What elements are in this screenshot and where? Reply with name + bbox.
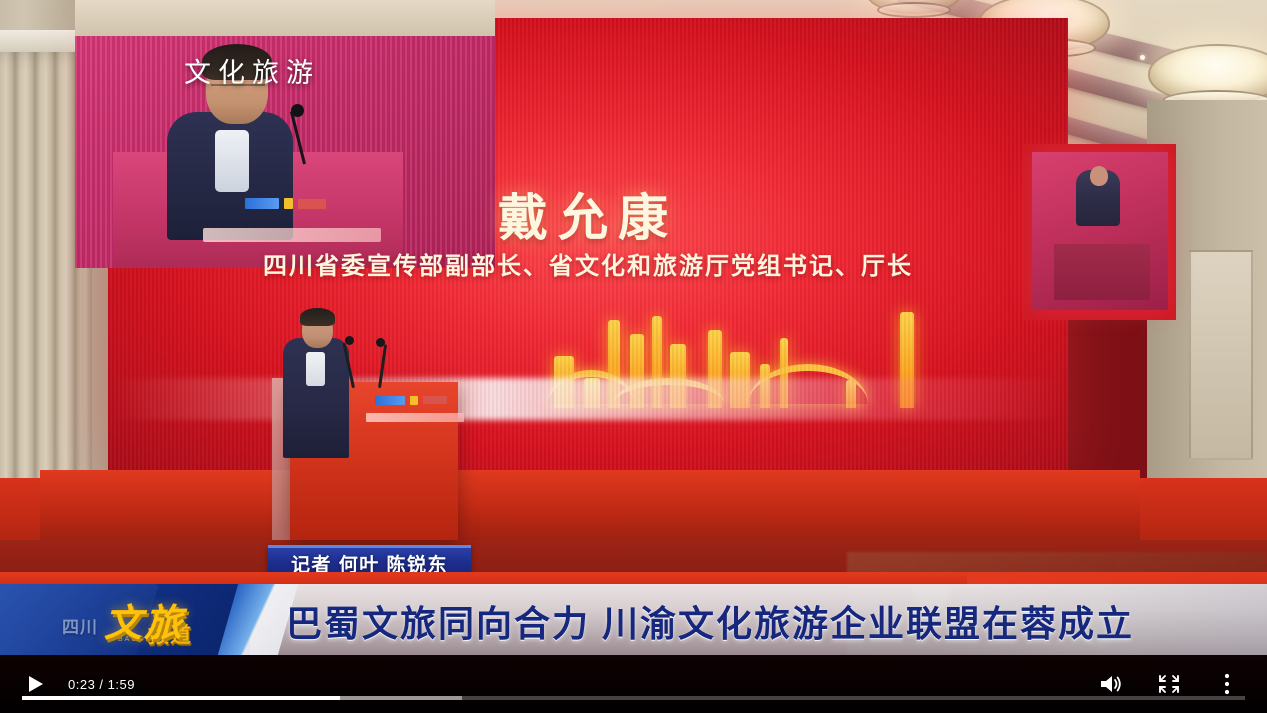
headline-text: 巴蜀文旅同向合力 川渝文化旅游企业联盟在蓉成立 — [286, 592, 1246, 650]
speaker-hair — [300, 308, 335, 326]
video-controls-bar: 0:23 / 1:59 — [0, 655, 1267, 713]
play-icon[interactable] — [22, 670, 50, 698]
channel-name-label: 文化旅游 — [184, 51, 320, 90]
podium-event-title — [366, 413, 464, 422]
lower-third-graphic: 四川 BAODAO 报道 文旅 巴蜀文旅同向合力 川渝文化旅游企业联盟在蓉成立 — [0, 572, 1267, 655]
sctv-swoosh-icon — [88, 42, 170, 98]
microphone-head — [345, 336, 354, 345]
light-streak — [108, 378, 1068, 420]
chandelier — [1148, 44, 1267, 104]
exit-fullscreen-icon[interactable] — [1155, 670, 1183, 698]
progress-bar-track[interactable] — [22, 696, 1245, 700]
led-speaker-title: 四川省委宣传部副部长、省文化和旅游厅党组书记、厅长 — [108, 246, 1068, 281]
program-logo-region: 四川 — [62, 613, 98, 638]
hall-door-panel — [1189, 250, 1253, 460]
skyline-graphic — [548, 298, 978, 408]
video-frame[interactable]: 戴允康 四川省委宣传部副部长、省文化和旅游厅党组书记、厅长 — [0, 0, 1267, 655]
ceiling-light-dot — [1140, 55, 1145, 60]
led-speaker-name: 戴允康 — [108, 178, 1068, 250]
channel-logo-bug: 文化旅游 — [88, 42, 320, 98]
time-display: 0:23 / 1:59 — [68, 677, 135, 692]
progress-bar-fill — [22, 696, 340, 700]
program-logo-main: 文旅 — [104, 592, 184, 647]
chandelier — [866, 0, 962, 14]
microphone-head — [376, 338, 385, 347]
stage-platform — [40, 470, 1140, 540]
controls-left-group: 0:23 / 1:59 — [0, 670, 135, 698]
controls-right-group — [1097, 670, 1267, 698]
volume-on-icon[interactable] — [1097, 670, 1125, 698]
video-player-root: 戴允康 四川省委宣传部副部长、省文化和旅游厅党组书记、厅长 — [0, 0, 1267, 713]
podium-sponsor-logos — [375, 395, 451, 405]
speaker-shirt — [306, 352, 325, 386]
more-vertical-icon[interactable] — [1213, 670, 1241, 698]
